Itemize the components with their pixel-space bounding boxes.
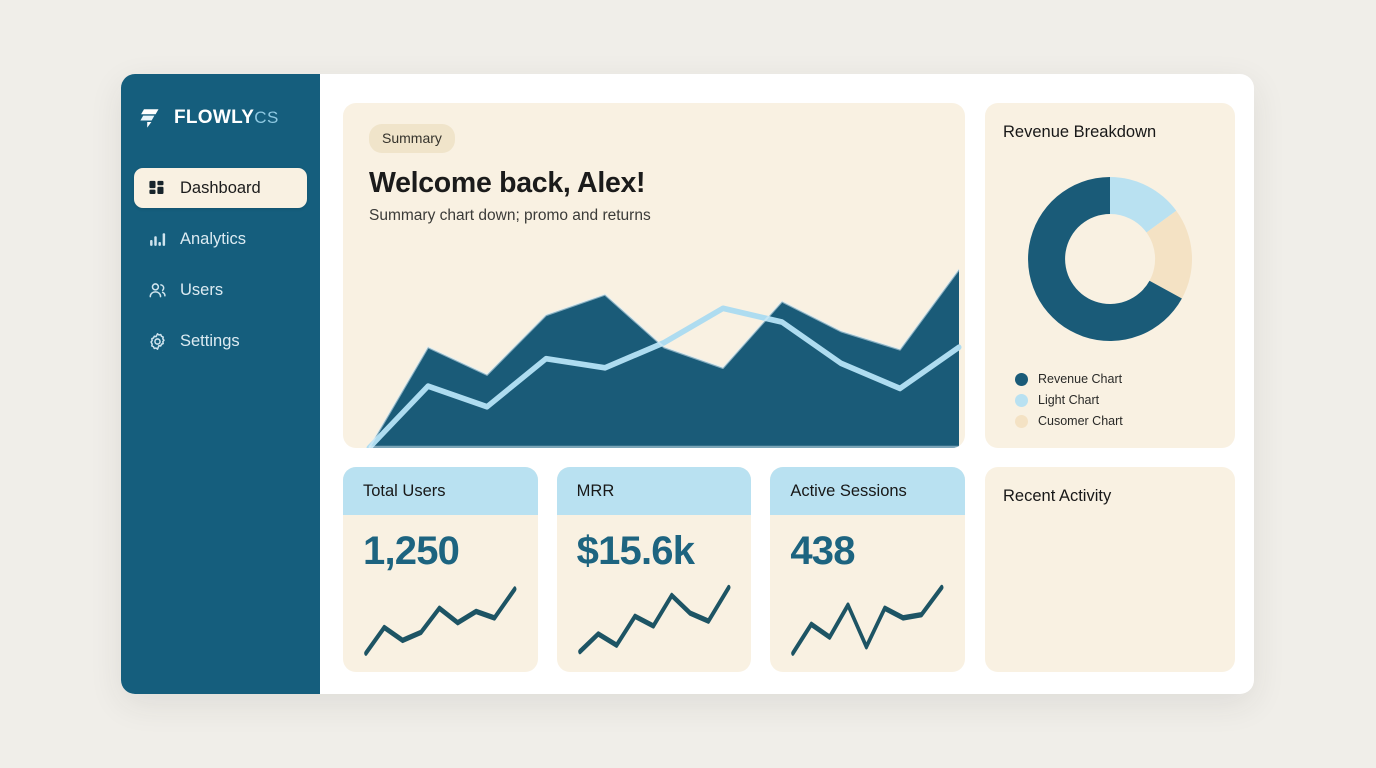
kpi-label: Active Sessions (770, 467, 965, 515)
legend-label: Revenue Chart (1038, 372, 1122, 386)
legend-item[interactable]: Cusomer Chart (1015, 414, 1217, 428)
legend-color-swatch (1015, 415, 1028, 428)
sidebar-item-label: Settings (180, 332, 240, 351)
brand-name-text: FLOWLY (174, 107, 254, 128)
kpi-body: $15.6k (557, 515, 752, 672)
kpi-label: Total Users (343, 467, 538, 515)
kpi-body: 438 (770, 515, 965, 672)
sidebar-item-label: Users (180, 281, 223, 300)
kpi-card-active-sessions[interactable]: Active Sessions 438 (770, 467, 965, 672)
sidebar-item-settings[interactable]: Settings (134, 321, 307, 361)
brand-name: FLOWLYCS (174, 107, 279, 129)
legend-item[interactable]: Light Chart (1015, 393, 1217, 407)
active-sessions-sparkline (790, 581, 945, 658)
legend-label: Light Chart (1038, 393, 1099, 407)
summary-area-chart[interactable] (343, 219, 965, 448)
legend-color-swatch (1015, 394, 1028, 407)
kpi-value: $15.6k (577, 531, 732, 571)
summary-card: Summary Welcome back, Alex! Summary char… (343, 103, 965, 448)
summary-header: Summary Welcome back, Alex! Summary char… (343, 124, 965, 225)
legend-color-swatch (1015, 373, 1028, 386)
kpi-card-total-users[interactable]: Total Users 1,250 (343, 467, 538, 672)
sidebar-item-label: Dashboard (180, 179, 261, 198)
status-badge: Summary (369, 124, 455, 153)
brand-suffix: CS (254, 108, 279, 127)
kpi-body: 1,250 (343, 515, 538, 672)
bar-chart-icon (148, 230, 167, 249)
flow-logo-icon (139, 106, 163, 130)
legend-label: Cusomer Chart (1038, 414, 1123, 428)
revenue-breakdown-card: Revenue Breakdown Re (985, 103, 1235, 448)
sidebar-item-analytics[interactable]: Analytics (134, 219, 307, 259)
card-title: Recent Activity (1003, 487, 1217, 506)
users-icon (148, 281, 167, 300)
brand[interactable]: FLOWLYCS (121, 100, 320, 136)
kpi-value: 438 (790, 531, 945, 571)
app-window: FLOWLYCS Dashboard (121, 74, 1254, 694)
kpi-card-mrr[interactable]: MRR $15.6k (557, 467, 752, 672)
sidebar-item-label: Analytics (180, 230, 246, 249)
sidebar-nav: Dashboard Analytics (121, 168, 320, 372)
legend-item[interactable]: Revenue Chart (1015, 372, 1217, 386)
sidebar: FLOWLYCS Dashboard (121, 74, 320, 694)
kpi-value: 1,250 (363, 531, 518, 571)
grid-icon (148, 179, 167, 198)
total-users-sparkline (363, 581, 518, 658)
main-content: Summary Welcome back, Alex! Summary char… (320, 74, 1254, 694)
revenue-breakdown-donut[interactable] (1003, 142, 1217, 372)
card-title: Revenue Breakdown (1003, 123, 1217, 142)
gear-icon (148, 332, 167, 351)
page-title: Welcome back, Alex! (369, 167, 939, 200)
kpi-row: Total Users 1,250 MRR $15.6k (343, 467, 965, 672)
mrr-sparkline (577, 581, 732, 658)
recent-activity-card: Recent Activity (985, 467, 1235, 672)
sidebar-item-dashboard[interactable]: Dashboard (134, 168, 307, 208)
donut-legend: Revenue Chart Light Chart Cusomer Chart (1003, 372, 1217, 432)
kpi-label: MRR (557, 467, 752, 515)
sidebar-item-users[interactable]: Users (134, 270, 307, 310)
